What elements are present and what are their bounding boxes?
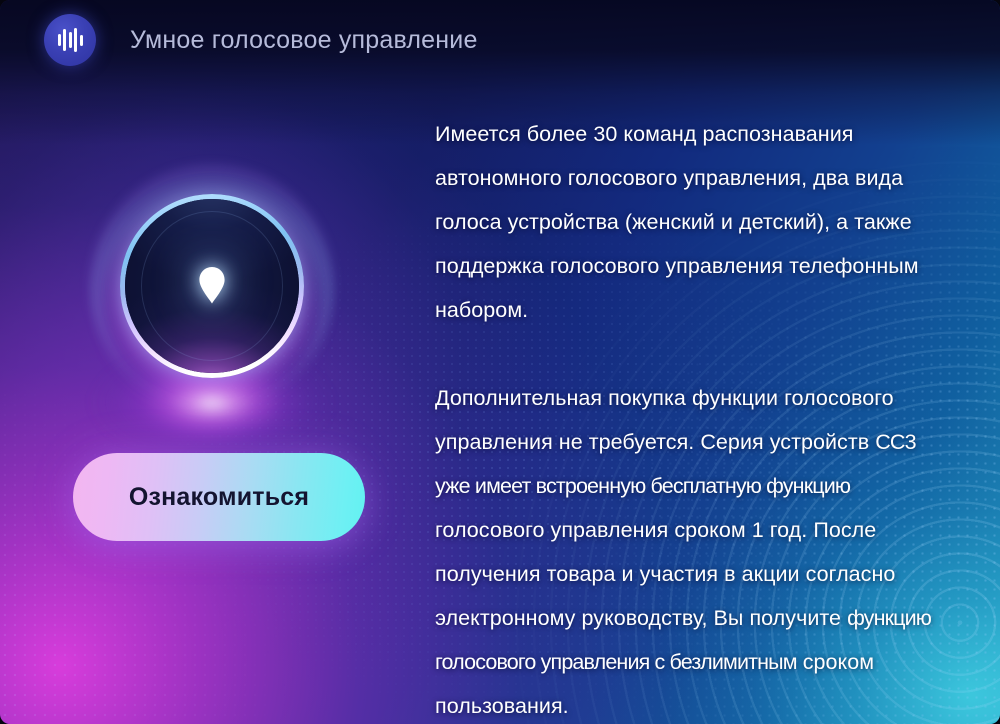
paragraph-2-part-a: Дополнительная покупка функции голосовог…	[435, 386, 894, 454]
description-paragraph-1: Имеется более 30 команд распознавания ав…	[435, 112, 955, 332]
voice-wave-icon	[44, 14, 96, 66]
voice-assistant-orb	[120, 194, 304, 378]
wave-bar-1	[58, 34, 61, 46]
description-column: Имеется более 30 команд распознавания ав…	[435, 112, 955, 724]
description-paragraph-2: Дополнительная покупка функции голосовог…	[435, 376, 955, 724]
header-bar: Умное голосовое управление	[0, 0, 1000, 80]
wave-bar-3	[69, 32, 72, 48]
wave-bar-4	[74, 28, 77, 52]
wave-bar-5	[80, 35, 83, 46]
cta-button[interactable]: Ознакомиться	[73, 453, 365, 541]
wave-bar-2	[63, 29, 66, 51]
page-title: Умное голосовое управление	[130, 26, 478, 55]
hero-column: Ознакомиться	[0, 80, 410, 724]
paragraph-2-part-c: голосового управления сроком 1 год. Посл…	[435, 518, 895, 630]
promo-card: Умное голосовое управление Ознакомиться …	[0, 0, 1000, 724]
voice-pin-icon	[198, 266, 226, 304]
